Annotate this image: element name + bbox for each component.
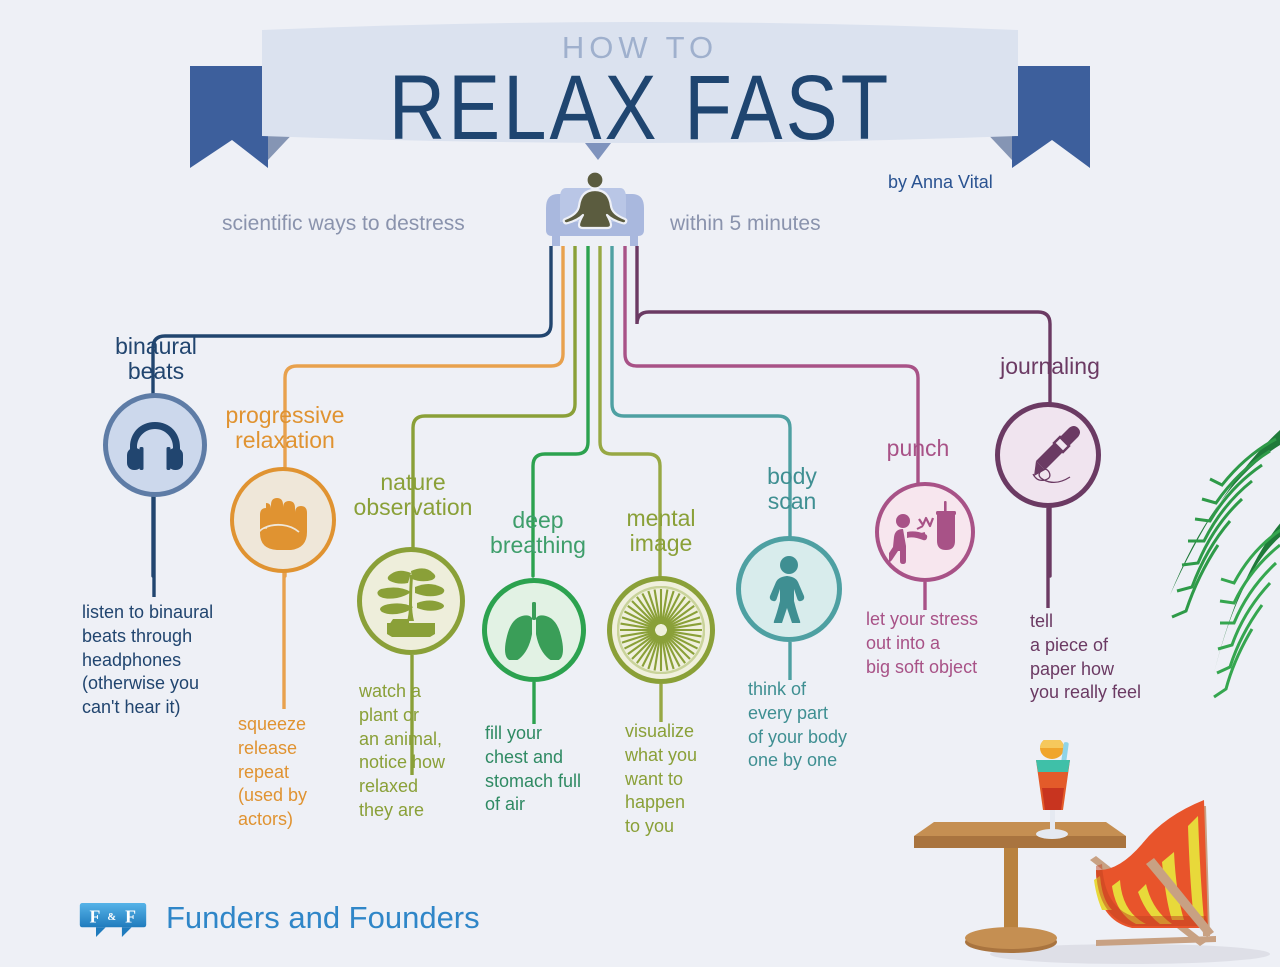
punch-stem xyxy=(922,582,928,610)
binaural-beats-stem xyxy=(151,497,157,597)
body-scan-icon-circle[interactable] xyxy=(736,536,842,642)
standing-person-icon xyxy=(761,555,817,623)
binaural-beats-description: listen to binaural beats through headpho… xyxy=(82,601,287,720)
bonsai-tree-icon xyxy=(371,565,451,637)
wooden-side-table-illustration xyxy=(914,822,1126,953)
mental-image-title: mental image xyxy=(597,506,725,556)
palm-leaf-illustration xyxy=(1130,425,1280,770)
title-banner: HOW TO RELAX FAST xyxy=(0,8,1280,173)
nature-observation-description: watch a plant or an animal, notice how r… xyxy=(359,680,489,823)
sunburst-radial-icon xyxy=(617,586,705,674)
subtitle-right: within 5 minutes xyxy=(670,212,821,236)
punch-icon-circle[interactable] xyxy=(875,482,975,582)
svg-text:&: & xyxy=(107,912,116,923)
meditating-person-on-armchair-icon xyxy=(540,168,650,253)
progressive-relaxation-icon-circle[interactable] xyxy=(230,467,336,573)
headphones-icon xyxy=(124,418,186,472)
journaling-stem xyxy=(1045,508,1051,608)
deep-breathing-description: fill your chest and stomach full of air xyxy=(485,722,630,817)
clenched-fist-icon xyxy=(253,488,313,552)
punch-description: let your stress out into a big soft obje… xyxy=(866,608,1046,679)
mental-image-icon-circle[interactable] xyxy=(607,576,715,684)
subtitle-left: scientific ways to destress xyxy=(222,212,465,236)
mental-image-stem xyxy=(658,684,664,722)
fountain-pen-writing-icon xyxy=(1011,422,1085,488)
lungs-icon xyxy=(501,600,567,660)
body-scan-title: body scan xyxy=(733,464,851,514)
body-scan-description: think of every part of your body one by … xyxy=(748,678,898,773)
progressive-relaxation-title: progressive relaxation xyxy=(200,403,370,453)
svg-text:F: F xyxy=(90,906,101,926)
binaural-beats-title: binaural beats xyxy=(78,334,234,384)
journaling-icon-circle[interactable] xyxy=(995,402,1101,508)
page-title: RELAX FAST xyxy=(0,54,1280,161)
down-arrow-icon xyxy=(584,142,612,162)
mental-image-description: visualize what you want to happen to you xyxy=(625,720,750,839)
brand-name: Funders and Founders xyxy=(166,900,480,936)
deep-breathing-title: deep breathing xyxy=(468,508,608,558)
boxing-punching-bag-icon xyxy=(889,499,961,565)
funders-and-founders-logo-icon[interactable]: F & F xyxy=(72,903,154,937)
beach-scene-illustration xyxy=(900,740,1280,967)
punch-title: punch xyxy=(855,436,981,461)
striped-deck-chair-illustration xyxy=(1086,800,1216,946)
byline: by Anna Vital xyxy=(888,172,993,193)
nature-observation-icon-circle[interactable] xyxy=(357,547,465,655)
deep-breathing-stem xyxy=(531,682,537,724)
binaural-beats-icon-circle[interactable] xyxy=(103,393,207,497)
deep-breathing-icon-circle[interactable] xyxy=(482,578,586,682)
progressive-relaxation-stem xyxy=(281,573,287,709)
svg-text:F: F xyxy=(125,906,136,926)
body-scan-stem xyxy=(787,642,793,680)
progressive-relaxation-description: squeeze release repeat (used by actors) xyxy=(238,713,378,832)
journaling-title: journaling xyxy=(975,354,1125,379)
